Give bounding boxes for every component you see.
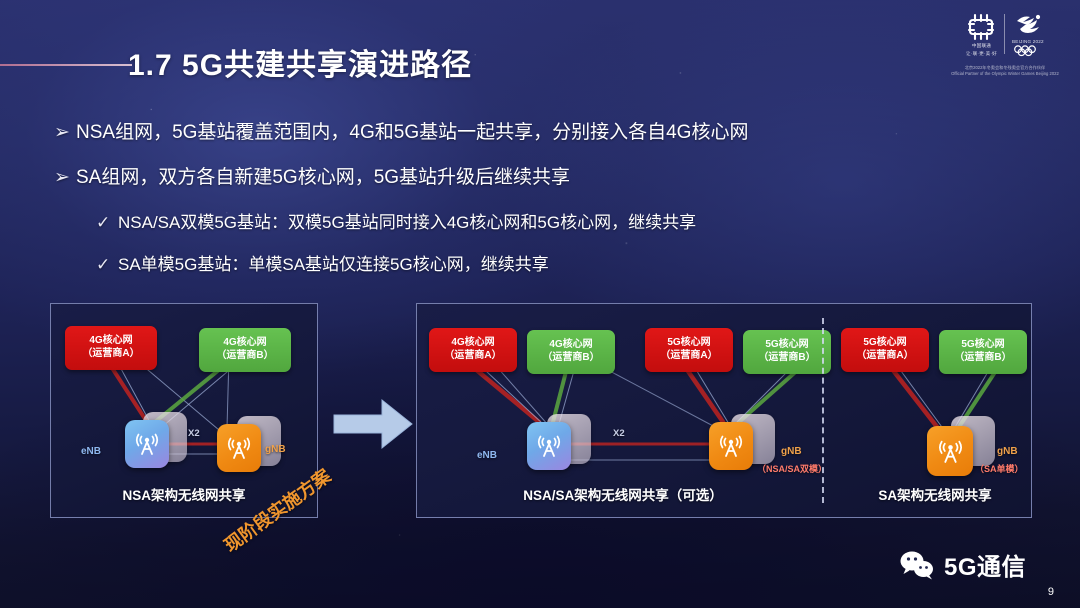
cell-tower-icon [936,437,965,466]
bullet-marker-arrow-icon: ➢ [54,166,76,189]
base-station-enb [527,422,571,470]
cell-tower-icon [535,432,563,460]
cn-line2: （运营商B） [216,350,273,363]
core-network-box: 5G核心网 （运营商A） [841,328,929,372]
slide-canvas: 1.7 5G共建共享演进路径 中国联通 让·联·更·美·好 [0,0,1080,608]
bullet-text-4: SA单模5G基站：单模SA基站仅连接5G核心网，继续共享 [118,255,549,274]
cn-line2: （运营商B） [954,352,1011,365]
bullet-item-2: ➢SA组网，双方各自新建5G核心网，5G基站升级后继续共享 [54,162,570,189]
page-number: 9 [1048,586,1054,598]
node-label-gnb: gNB [265,444,286,455]
cn-line1: 5G核心网 [667,337,710,350]
cn-line2: （运营商A） [856,350,913,363]
cn-line1: 5G核心网 [765,339,808,352]
watermark-text: 5G通信 [944,547,1026,582]
node-label-enb: eNB [477,450,497,461]
bullet-item-1: ➢NSA组网，5G基站覆盖范围内，4G和5G基站一起共享，分别接入各自4G核心网 [54,117,748,144]
cn-line2: （运营商B） [758,352,815,365]
cn-line1: 4G核心网 [223,337,266,350]
unicom-name-cn: 中国联通 [972,43,991,49]
wechat-icon [899,550,935,580]
partner-logo-block: 中国联通 让·联·更·美·好 BEIJING 2022 [936,6,1074,90]
cell-tower-icon [717,432,745,460]
base-station-gnb [709,422,753,470]
panel-caption-sa: SA架构无线网共享 [837,484,1033,504]
core-network-box: 5G核心网 （运营商B） [939,330,1027,374]
unicom-slogan: 让·联·更·美·好 [966,51,997,57]
core-network-box: 4G核心网 （运营商B） [527,330,615,374]
bullet-marker-check-icon: ✓ [96,213,118,233]
china-unicom-knot-icon [967,12,995,42]
node-label-gnb: gNB [997,446,1018,457]
cn-line1: 5G核心网 [863,337,906,350]
cn-line2: （运营商A） [444,350,501,363]
logo-row: 中国联通 让·联·更·美·好 BEIJING 2022 [966,6,1044,62]
cn-line1: 4G核心网 [89,335,132,348]
transition-arrow-icon [332,396,414,452]
cn-line1: 5G核心网 [961,339,1004,352]
panel-caption-nsasa: NSA/SA架构无线网共享（可选） [453,484,793,504]
core-network-box: 4G核心网 （运营商A） [429,328,517,372]
watermark: 5G通信 [899,547,1026,582]
china-unicom-logo: 中国联通 让·联·更·美·好 [966,12,997,57]
base-station-gnb [217,424,261,472]
bullet-item-3: ✓NSA/SA双模5G基站：双模5G基站同时接入4G核心网和5G核心网，继续共享 [96,208,696,233]
partner-footline-en: Official Partner of the Olympic Winter G… [951,71,1059,77]
core-network-box: 4G核心网 （运营商A） [65,326,157,370]
link-label-x2: X2 [188,428,200,439]
node-mode-label-gnb: （NSA/SA双模） [757,462,827,475]
bullet-item-4: ✓SA单模5G基站：单模SA基站仅连接5G核心网，继续共享 [96,250,549,275]
beijing-2022-wordmark: BEIJING 2022 [1012,39,1044,44]
bullet-marker-check-icon: ✓ [96,255,118,275]
link-label-x2: X2 [613,428,625,439]
core-network-box: 5G核心网 （运营商A） [645,328,733,372]
panel-divider-dashed [822,318,824,503]
cn-line1: 4G核心网 [451,337,494,350]
beijing-2022-logo: BEIJING 2022 [1012,12,1044,57]
page-title: 1.7 5G共建共享演进路径 [128,40,472,84]
diagram-panel-nsasa-sa: 4G核心网 （运营商A） 4G核心网 （运营商B） 5G核心网 （运营商A） 5… [416,303,1032,518]
logo-divider [1004,14,1005,54]
olympic-rings-icon [1012,45,1044,56]
title-rule [0,64,132,66]
node-mode-label-gnb: （SA单模） [975,462,1024,475]
bullet-text-3: NSA/SA双模5G基站：双模5G基站同时接入4G核心网和5G核心网，继续共享 [118,213,696,232]
bullet-text-1: NSA组网，5G基站覆盖范围内，4G和5G基站一起共享，分别接入各自4G核心网 [76,122,748,143]
cn-line1: 4G核心网 [549,339,592,352]
partner-footline: 北京2022年冬奥会和冬残奥会官方合作伙伴 Official Partner o… [951,65,1059,77]
cn-line2: （运营商B） [542,352,599,365]
node-label-enb: eNB [81,446,101,457]
base-station-enb [125,420,169,468]
core-network-box: 4G核心网 （运营商B） [199,328,291,372]
cell-tower-icon [225,434,253,462]
bullet-marker-arrow-icon: ➢ [54,121,76,144]
node-label-gnb: gNB [781,446,802,457]
cn-line2: （运营商A） [82,348,139,361]
base-station-gnb [927,426,973,476]
bullet-text-2: SA组网，双方各自新建5G核心网，5G基站升级后继续共享 [76,167,570,188]
cn-line2: （运营商A） [660,350,717,363]
core-network-box: 5G核心网 （运营商B） [743,330,831,374]
beijing-2022-winter-olympics-icon [1013,12,1043,38]
diagram-panel-nsa: 4G核心网 （运营商A） 4G核心网 （运营商B） [50,303,318,518]
cell-tower-icon [133,430,161,458]
